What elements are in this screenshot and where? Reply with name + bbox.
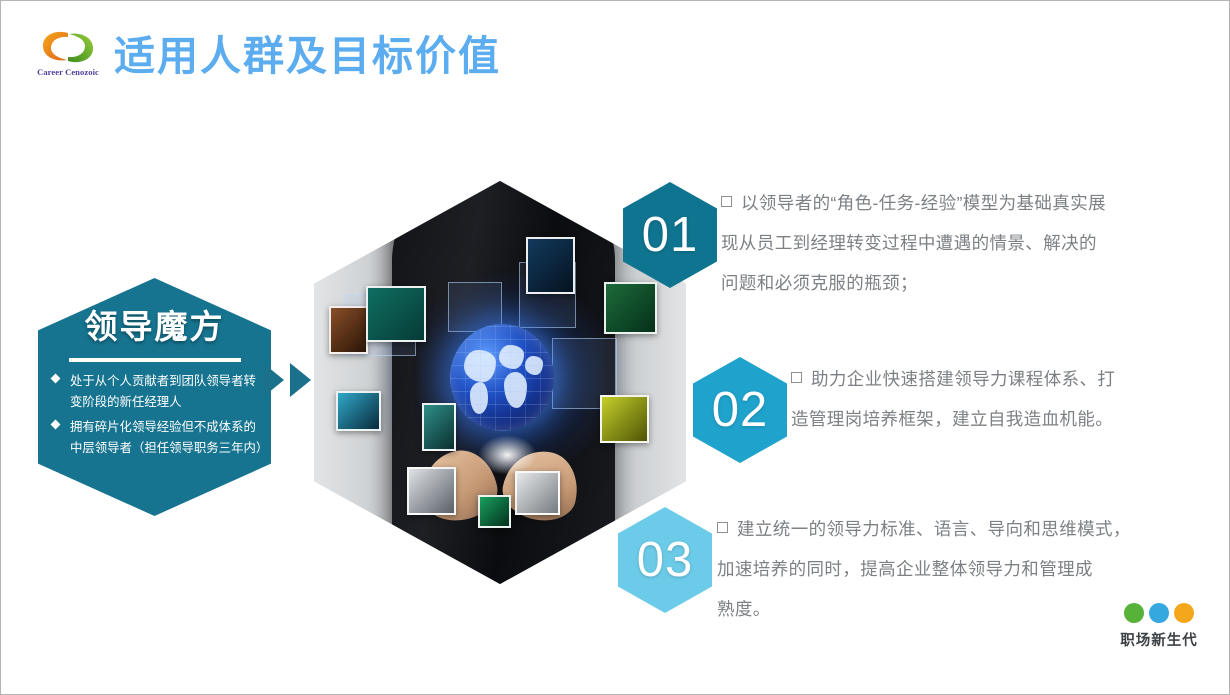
point-line: 造管理岗培养框架，建立自我造血机能。	[791, 399, 1186, 439]
slide-header: Career Cenozoic 适用人群及目标价值	[1, 1, 1230, 109]
career-cenozoic-logo: Career Cenozoic	[29, 27, 107, 85]
left-panel-title: 领导魔方	[38, 300, 271, 348]
brand-label: 职场新生代	[1099, 629, 1219, 650]
point-line: 助力企业快速搭建领导力课程体系、打	[791, 359, 1186, 399]
page-title: 适用人群及目标价值	[114, 27, 501, 85]
right-arrow-icon	[263, 363, 284, 397]
point-line: 现从员工到经理转变过程中遭遇的情景、解决的	[721, 223, 1173, 263]
point-line: 问题和必须克服的瓶颈；	[721, 263, 1173, 303]
slide-canvas: Career Cenozoic 适用人群及目标价值 领导魔方 处于从个人贡献者到…	[0, 0, 1230, 695]
point-line: 加速培养的同时，提高企业整体领导力和管理成	[717, 549, 1173, 589]
orange-dot-icon	[1174, 603, 1194, 623]
green-dot-icon	[1124, 603, 1144, 623]
list-item: 处于从个人贡献者到团队领导者转变阶段的新任经理人	[52, 371, 264, 413]
floating-thumbnail	[478, 495, 512, 527]
diamond-bullet-icon	[51, 374, 61, 384]
hollow-square-bullet-icon	[717, 522, 728, 533]
left-hexagon-panel: 领导魔方 处于从个人贡献者到团队领导者转变阶段的新任经理人 拥有碎片化领导经验但…	[38, 278, 271, 516]
globe-grid-lines	[450, 324, 554, 431]
floating-thumbnail	[600, 395, 649, 443]
photo-backdrop-left	[314, 181, 403, 584]
point-line: 以领导者的“角色-任务-经验”模型为基础真实展	[721, 183, 1173, 223]
point-number-hexagon-03: 03	[618, 507, 712, 613]
brand-dots	[1099, 601, 1219, 625]
right-arrow-icon	[290, 363, 311, 397]
point-number-hexagon-02: 02	[693, 357, 787, 463]
diamond-bullet-icon	[51, 420, 61, 430]
bottom-brand-logo: 职场新生代	[1099, 601, 1219, 653]
hollow-square-bullet-icon	[721, 196, 732, 207]
point-line: 建立统一的领导力标准、语言、导向和思维模式，	[717, 509, 1173, 549]
blue-dot-icon	[1149, 603, 1169, 623]
floating-thumbnail	[526, 237, 575, 293]
light-flare	[478, 435, 538, 475]
list-item-label: 处于从个人贡献者到团队领导者转变阶段的新任经理人	[70, 374, 256, 409]
floating-thumbnail	[604, 282, 656, 334]
floating-thumbnail	[422, 403, 456, 451]
list-item-label: 拥有碎片化领导经验但不成体系的中层领导者（担任领导职务三年内）	[70, 420, 268, 455]
hollow-square-bullet-icon	[791, 372, 802, 383]
globe-graphic	[450, 324, 554, 431]
floating-thumbnail	[336, 391, 381, 431]
floating-thumbnail	[515, 471, 560, 515]
point-text-02: 助力企业快速搭建领导力课程体系、打 造管理岗培养框架，建立自我造血机能。	[791, 359, 1186, 439]
list-item: 拥有碎片化领导经验但不成体系的中层领导者（担任领导职务三年内）	[52, 417, 264, 459]
floating-thumbnail	[407, 467, 456, 515]
swirl-logo-icon	[38, 27, 98, 67]
point-text-01: 以领导者的“角色-任务-经验”模型为基础真实展 现从员工到经理转变过程中遭遇的情…	[721, 183, 1173, 303]
floating-thumbnail	[329, 306, 368, 354]
left-panel-bullet-list: 处于从个人贡献者到团队领导者转变阶段的新任经理人 拥有碎片化领导经验但不成体系的…	[52, 371, 264, 463]
floating-thumbnail	[366, 286, 426, 342]
left-panel-divider	[69, 358, 241, 362]
logo-wordmark: Career Cenozoic	[29, 67, 107, 77]
